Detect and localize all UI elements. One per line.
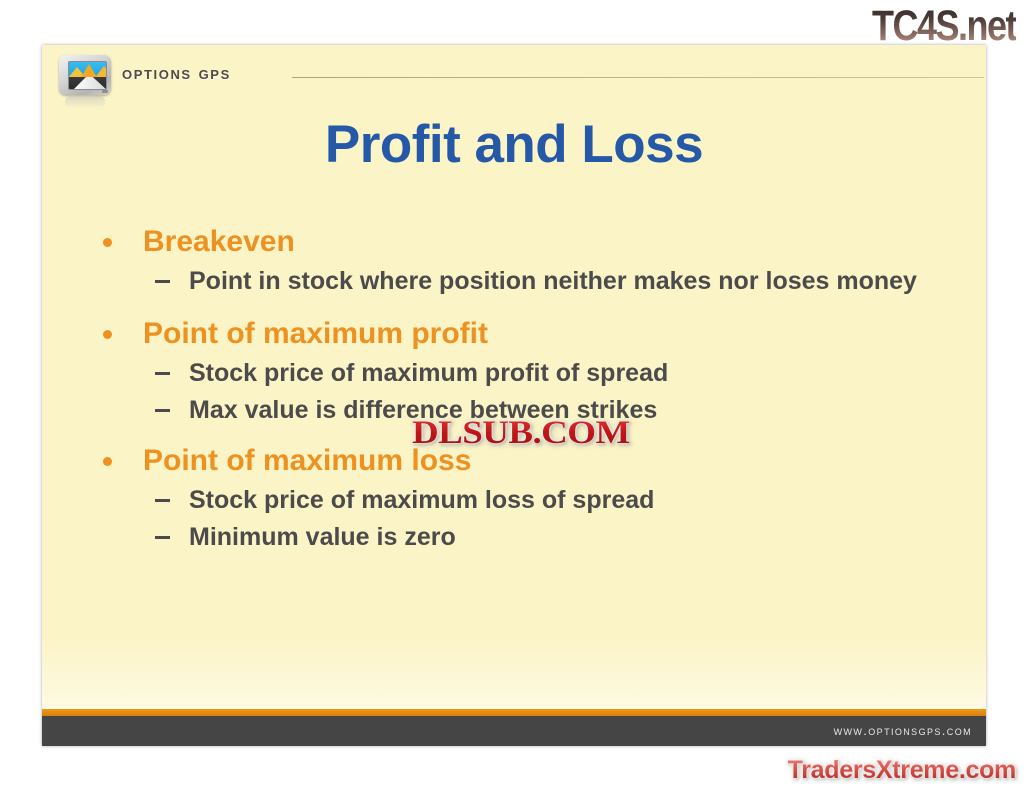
gps-device-reflection [65,96,105,108]
bullet-level1: Breakeven [97,223,957,261]
bullet-level2: Stock price of maximum loss of spread [97,482,957,518]
bullet-dot-icon [103,238,112,247]
gps-device-button [102,90,108,93]
bullet-dash-icon [155,280,170,283]
bullet-level2: Stock price of maximum profit of spread [97,355,957,391]
footer-website-url: www.OptionsGPS.com [834,723,972,738]
bullet-level2-label: Point in stock where position neither ma… [189,267,917,295]
gps-device-icon [59,55,111,97]
bullet-dash-icon [155,372,170,375]
page-title: Profit and Loss [42,114,986,175]
footer-bar: www.OptionsGPS.com [42,716,986,746]
bullet-level2-label: Stock price of maximum loss of spread [189,486,654,514]
presentation-slide: Options GPS Profit and Loss Breakeven Po… [42,45,986,746]
bullet-level1-label: Breakeven [143,225,295,258]
bullet-level2: Point in stock where position neither ma… [97,263,957,299]
bullet-dash-icon [155,409,170,412]
slide-body: Breakeven Point in stock where position … [97,223,957,556]
bullet-dot-icon [103,330,112,339]
tc4s-brand-logo: TC4S.net [872,2,1016,49]
dlsub-watermark: DLSUB.COM [412,415,630,452]
slide-header: Options GPS [42,45,986,107]
bullet-level2: Minimum value is zero [97,519,957,555]
bullet-dot-icon [103,457,112,466]
bullet-level1: Point of maximum profit [97,315,957,353]
gps-device-screen [68,61,107,90]
bullet-dash-icon [155,536,170,539]
footer-accent-bar [42,709,986,716]
options-gps-wordmark: Options GPS [122,63,231,85]
bullet-level2-label: Minimum value is zero [189,523,456,551]
header-divider [292,77,984,78]
bullet-level2-label: Stock price of maximum profit of spread [189,359,668,387]
bullet-dash-icon [155,499,170,502]
tradersxtreme-brand-logo: TradersXtreme.com [788,756,1016,785]
bullet-level1-label: Point of maximum profit [143,317,488,350]
